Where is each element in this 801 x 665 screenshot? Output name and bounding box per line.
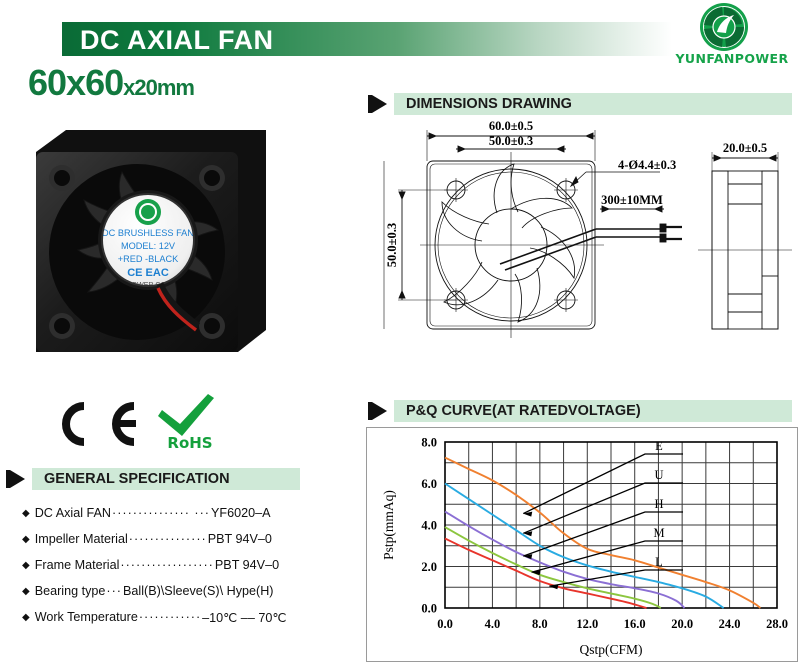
x-axis-tick: 12.0 [576,617,598,631]
spec-dots: ·················· [120,558,214,572]
spec-dots: ··············· [129,532,207,546]
datasheet-page: DC AXIAL FAN 60x60x20mm YUNFANPOWER DIME… [0,0,801,665]
y-axis-tick: 4.0 [421,519,437,533]
bullet-diamond-icon: ◆ [22,612,30,623]
play-triangle-icon [372,95,387,113]
y-axis-label: Pstp(mmAq) [381,490,396,560]
spec-key: DC Axial FAN [35,506,111,520]
play-triangle-icon [10,470,25,488]
dim-width-outer: 60.0±0.5 [489,119,533,133]
section-header-dimensions: DIMENSIONS DRAWING [372,93,792,115]
x-axis-tick: 20.0 [671,617,693,631]
series-label-E: E [655,439,663,453]
label-line2: MODEL: 12V [121,241,176,251]
label-marks: CE EAC [127,267,169,279]
rohs-check-icon [152,392,228,440]
spec-key: Bearing type [35,584,106,598]
rohs-label: RoHS [150,434,230,452]
spec-value: –10℃ –– 70℃ [202,610,286,625]
x-axis-tick: 0.0 [437,617,453,631]
product-size-title: 60x60x20mm [28,62,194,104]
spec-key: Impeller Material [35,532,128,546]
spec-value: Ball(B)\Sleeve(S)\ Hype(H) [123,584,273,598]
bullet-diamond-icon: ◆ [22,586,30,597]
section-header-spec: GENERAL SPECIFICATION [10,468,300,490]
ce-mark-icon [48,398,140,450]
spec-row: ◆ Frame Material ·················· PBT … [22,552,352,578]
y-axis-tick: 6.0 [421,477,437,491]
dim-hole-pitch-y: 50.0±0.3 [385,223,399,267]
fan-swirl-logo-icon [696,2,752,52]
series-label-U: U [654,468,663,482]
brand-logo: YUNFANPOWER [672,2,792,70]
page-title: DC AXIAL FAN [80,25,274,56]
x-axis-tick: 8.0 [532,617,548,631]
label-line3: +RED -BLACK [118,254,179,264]
brand-name: YUNFANPOWER [672,51,792,66]
y-axis-tick: 2.0 [421,560,437,574]
size-main: 60x60 [28,62,123,103]
spec-key: Work Temperature [35,610,138,624]
spec-row: ◆ Impeller Material ··············· PBT … [22,526,352,552]
spec-value: PBT 94V–0 [208,532,272,546]
play-triangle-icon [372,402,387,420]
general-specification-list: ◆ DC Axial FAN ··············· ··· YF602… [22,500,352,630]
section-title-dimensions: DIMENSIONS DRAWING [406,96,572,112]
x-axis-label: Qstp(CFM) [579,642,642,657]
series-label-L: L [655,555,663,569]
section-title-spec: GENERAL SPECIFICATION [44,471,230,487]
product-photo-fan: DC BRUSHLESS FAN MODEL: 12V +RED -BLACK … [22,112,280,368]
spec-row: ◆ Bearing type ··· Ball(B)\Sleeve(S)\ Hy… [22,578,352,604]
series-curve-H [445,512,685,608]
y-axis-tick: 0.0 [421,602,437,616]
certification-marks: RoHS [40,392,240,462]
x-axis-tick: 16.0 [624,617,646,631]
bullet-diamond-icon: ◆ [22,508,30,519]
pq-chart-svg: 0.04.08.012.016.020.024.028.00.02.04.06.… [367,428,795,659]
spec-dots: ··· [106,584,122,598]
x-axis-tick: 24.0 [719,617,741,631]
bullet-diamond-icon: ◆ [22,560,30,571]
label-line1: DC BRUSHLESS FAN [102,228,194,238]
spec-dots: ············ [139,610,201,624]
spec-dots: ··············· ··· [112,506,210,520]
section-title-pq: P&Q CURVE(AT RATEDVOLTAGE) [406,403,641,419]
spec-value: YF6020–A [211,506,271,520]
section-header-pq: P&Q CURVE(AT RATEDVOLTAGE) [372,400,792,422]
spec-value: PBT 94V–0 [215,558,279,572]
bullet-diamond-icon: ◆ [22,534,30,545]
spec-key: Frame Material [35,558,120,572]
x-axis-tick: 4.0 [485,617,501,631]
spec-row: ◆ DC Axial FAN ··············· ··· YF602… [22,500,352,526]
dimensions-technical-drawing: 60.0±0.5 50.0±0.3 50.0±0.3 4-Ø4.4±0.3 30… [372,116,797,351]
dim-depth: 20.0±0.5 [723,141,767,155]
spec-row: ◆ Work Temperature ············ –10℃ –– … [22,604,352,630]
series-label-H: H [654,497,663,511]
series-label-M: M [653,526,664,540]
size-sub: x20mm [123,75,194,100]
x-axis-tick: 28.0 [766,617,788,631]
y-axis-tick: 8.0 [421,436,437,450]
dim-lead-length: 300±10MM [601,193,663,207]
dim-hole-spec: 4-Ø4.4±0.3 [618,158,676,172]
dim-hole-pitch-x: 50.0±0.3 [489,134,533,148]
pq-curve-chart: 0.04.08.012.016.020.024.028.00.02.04.06.… [366,427,798,662]
